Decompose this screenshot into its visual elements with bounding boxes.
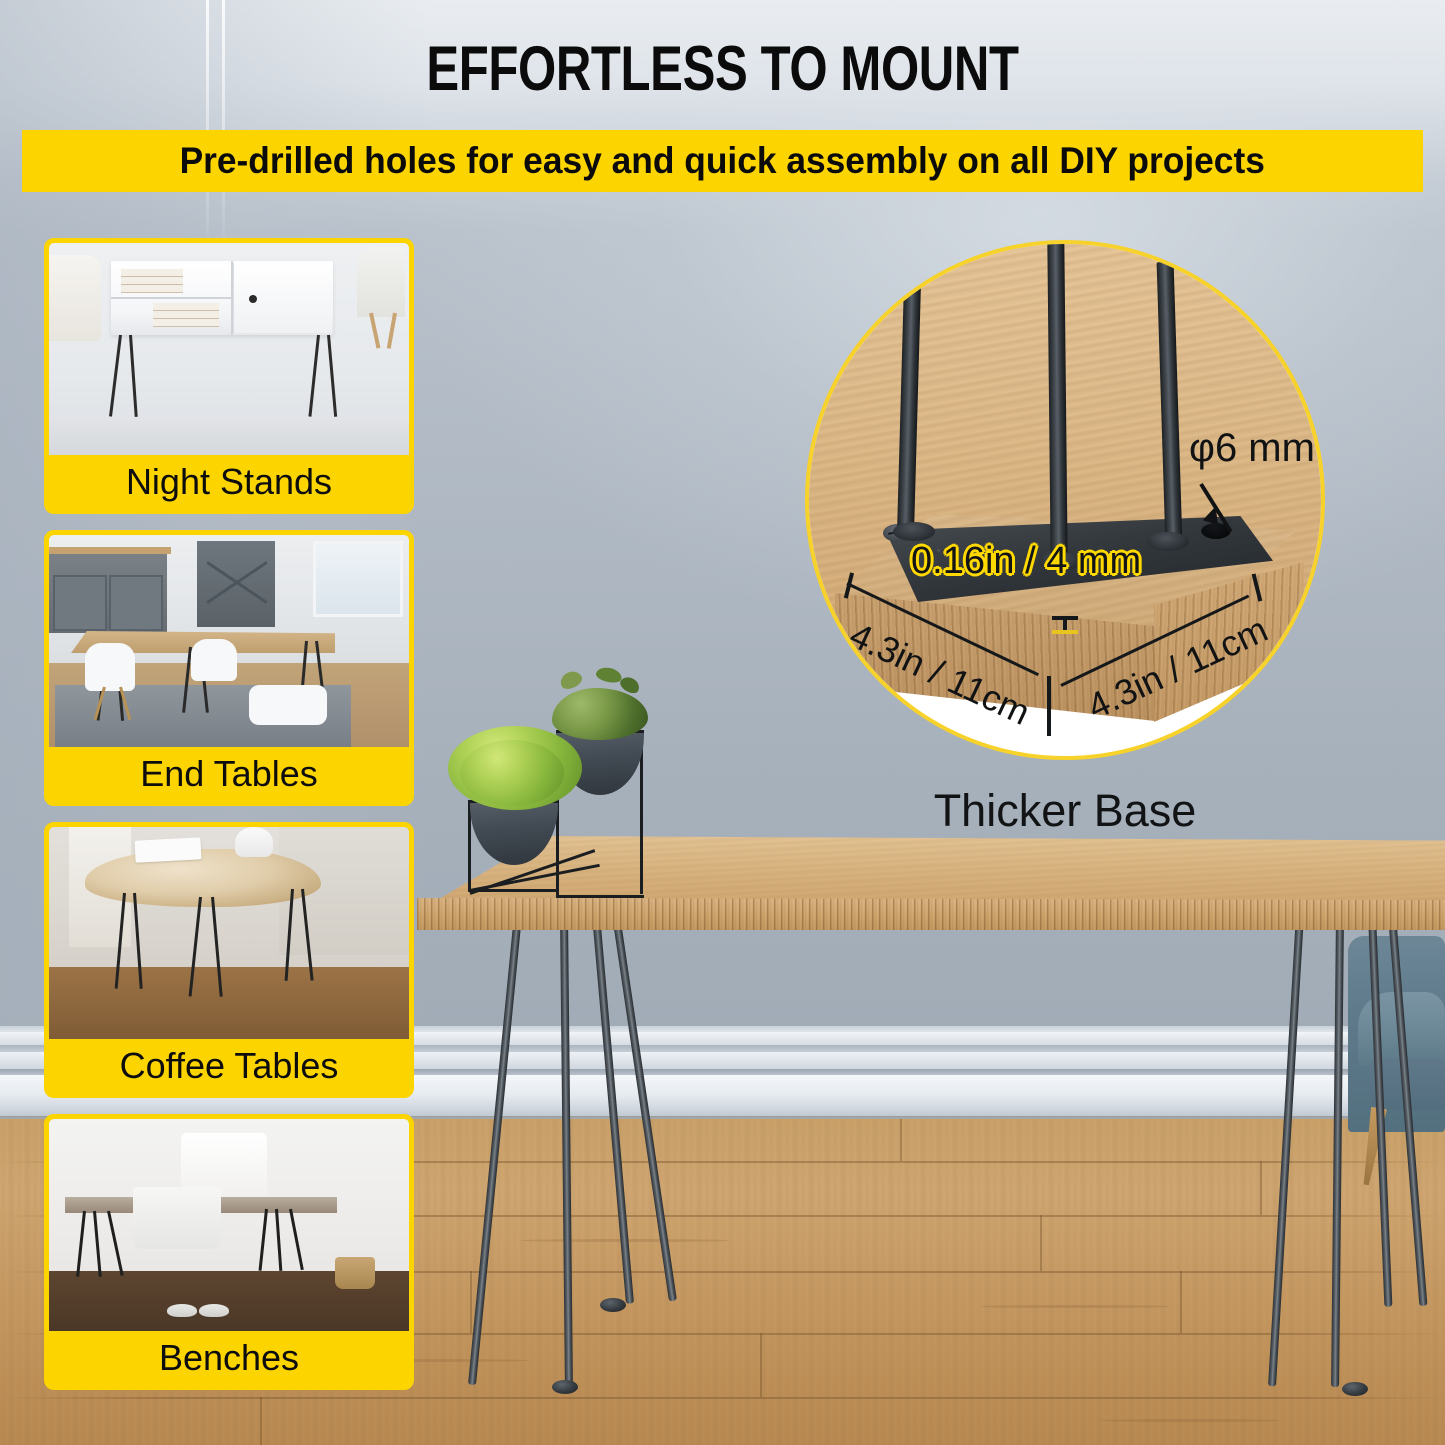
bed-shape: [49, 255, 101, 341]
rod-weld: [893, 522, 935, 541]
nightstand-photo: [49, 243, 409, 455]
dim-endcap-center: [1047, 676, 1051, 736]
card-label-night-stands: Night Stands: [49, 455, 409, 509]
tabletop-edge-grain: [417, 898, 1445, 930]
coffeetable-photo: [49, 827, 409, 1039]
endtable-photo: [49, 535, 409, 747]
table-leg-foot: [1342, 1382, 1368, 1396]
use-case-card-coffee-tables[interactable]: Coffee Tables: [44, 822, 414, 1098]
cabinet-knob: [249, 295, 257, 303]
plant-stand-wire: [556, 895, 644, 898]
thickness-tick-bottom: [1052, 630, 1078, 634]
use-case-card-night-stands[interactable]: Night Stands: [44, 238, 414, 514]
use-case-label: Night Stands: [126, 464, 332, 500]
moss-ball-foliage: [460, 740, 564, 806]
subtitle-banner: Pre-drilled holes for easy and quick ass…: [22, 130, 1423, 192]
page-title: EFFORTLESS TO MOUNT: [159, 36, 1286, 102]
hole-diameter-label: φ6 mm: [1189, 426, 1315, 471]
thickness-label: 0.16in / 4 mm: [911, 540, 1141, 583]
product-infographic: φ6 mm 0.16in / 4 mm 4.3in / 11cm 4.3in /…: [0, 0, 1445, 1445]
card-label-coffee-tables: Coffee Tables: [49, 1039, 409, 1093]
chair-shape: [357, 247, 405, 317]
plant-stand-wire: [640, 736, 643, 894]
base-detail-inset: φ6 mm 0.16in / 4 mm 4.3in / 11cm 4.3in /…: [805, 240, 1325, 760]
use-case-label: Benches: [159, 1340, 299, 1376]
use-case-label: Coffee Tables: [120, 1048, 339, 1084]
rod-weld: [1147, 532, 1189, 551]
card-label-end-tables: End Tables: [49, 747, 409, 801]
bench-photo: [49, 1119, 409, 1331]
use-case-card-benches[interactable]: Benches: [44, 1114, 414, 1390]
thicker-base-caption: Thicker Base: [805, 785, 1325, 837]
use-case-label: End Tables: [140, 756, 317, 792]
table-leg-foot: [600, 1298, 626, 1312]
hairpin-rod: [1047, 240, 1068, 570]
table-leg-foot: [552, 1380, 578, 1394]
card-label-benches: Benches: [49, 1331, 409, 1385]
cabinet-door: [233, 263, 332, 333]
use-case-card-end-tables[interactable]: End Tables: [44, 530, 414, 806]
subtitle-text: Pre-drilled holes for easy and quick ass…: [180, 140, 1265, 182]
